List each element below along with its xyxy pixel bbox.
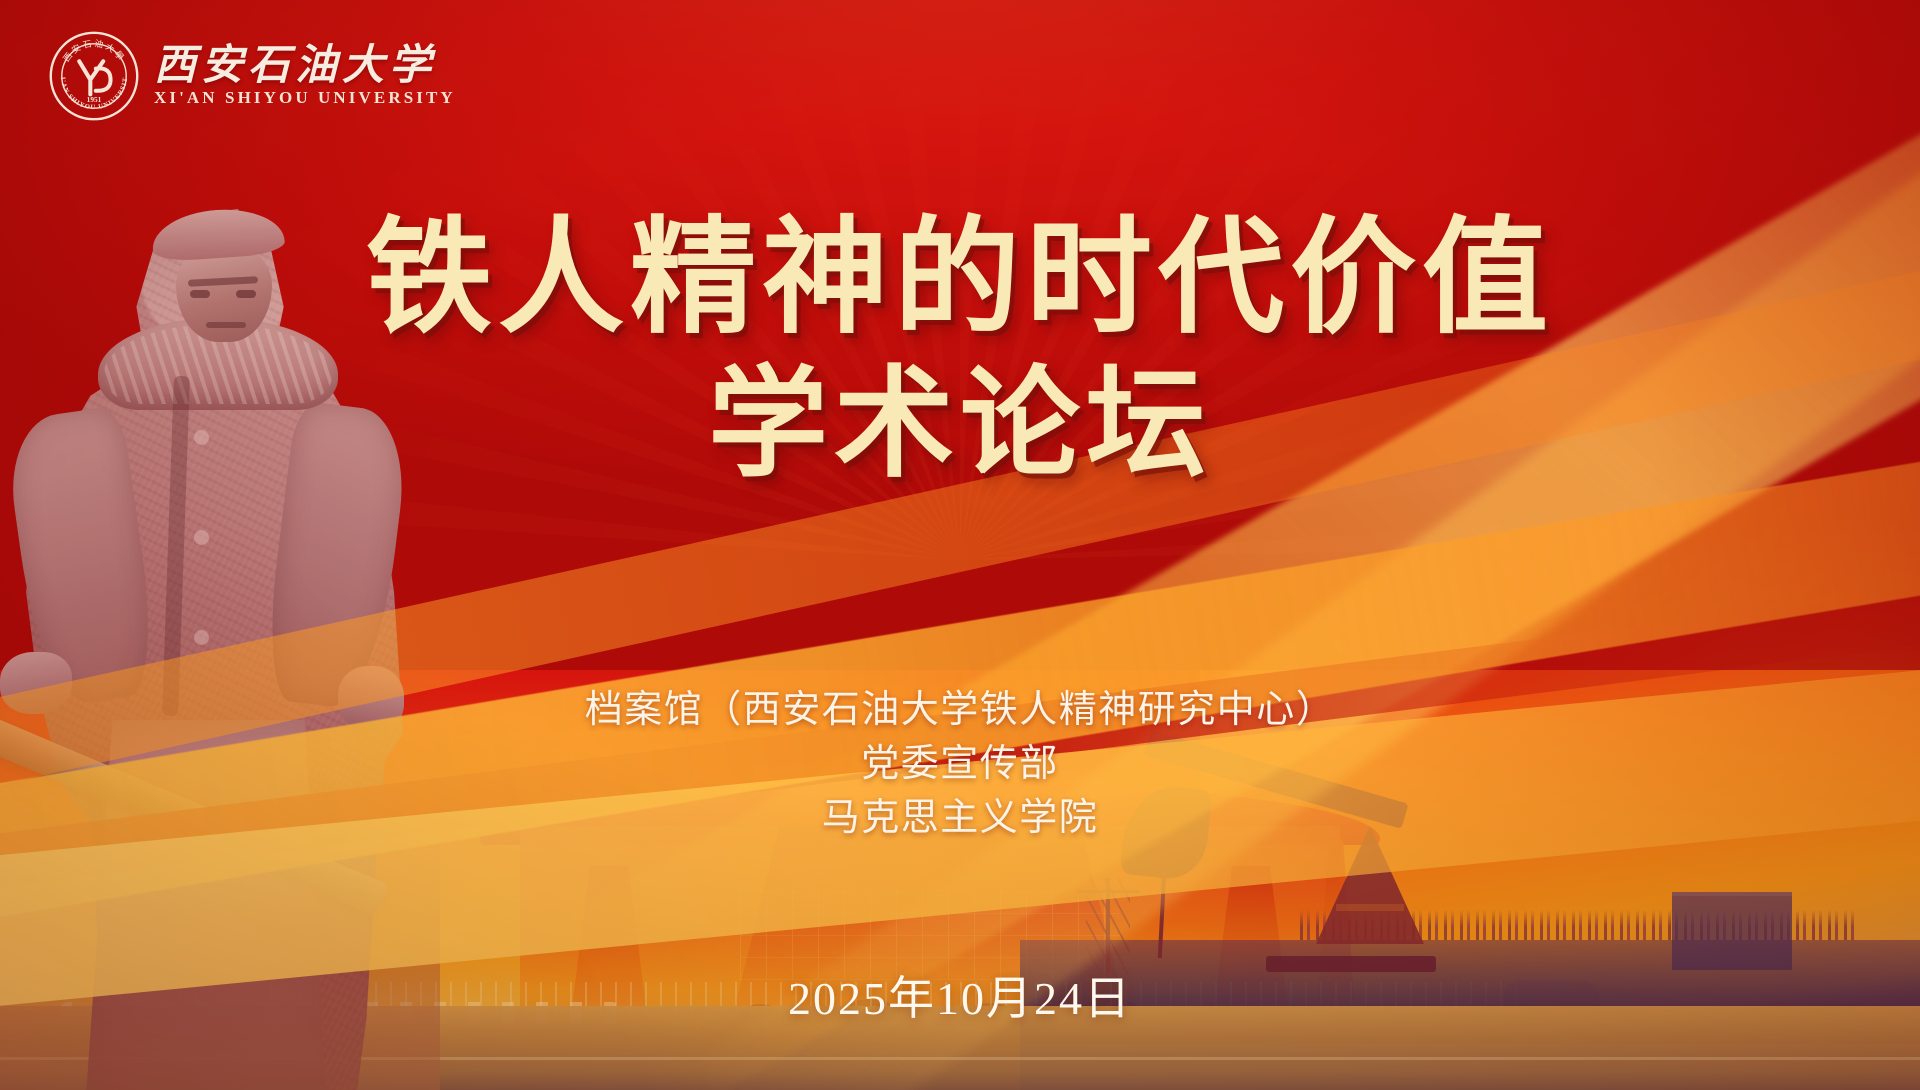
- logo-wordmark-en: XI'AN SHIYOU UNIVERSITY: [154, 88, 456, 108]
- logo-wordmark-cn: 西安石油大学: [154, 44, 456, 87]
- event-date: 2025年10月24日: [0, 962, 1920, 1028]
- organizer-line-1: 档案馆（西安石油大学铁人精神研究中心）: [0, 684, 1920, 738]
- title-line-2: 学术论坛: [0, 356, 1920, 493]
- poster-title: 铁人精神的时代价值 学术论坛: [0, 206, 1920, 492]
- vignette: [0, 0, 1920, 1090]
- organizer-list: 档案馆（西安石油大学铁人精神研究中心） 党委宣传部 马克思主义学院: [0, 684, 1920, 846]
- svg-text:1951: 1951: [87, 95, 102, 104]
- title-line-1: 铁人精神的时代价值: [0, 206, 1920, 350]
- university-seal-icon: 西安石油大學 XI'AN SHIYOU UNIVERSITY 1951: [48, 30, 140, 122]
- organizer-line-3: 马克思主义学院: [0, 792, 1920, 846]
- university-logo[interactable]: 西安石油大學 XI'AN SHIYOU UNIVERSITY 1951 西安石油…: [48, 30, 456, 122]
- organizer-line-2: 党委宣传部: [0, 738, 1920, 792]
- logo-wordmark: 西安石油大学 XI'AN SHIYOU UNIVERSITY: [154, 44, 456, 109]
- poster-canvas: 西安石油大學 XI'AN SHIYOU UNIVERSITY 1951 西安石油…: [0, 0, 1920, 1090]
